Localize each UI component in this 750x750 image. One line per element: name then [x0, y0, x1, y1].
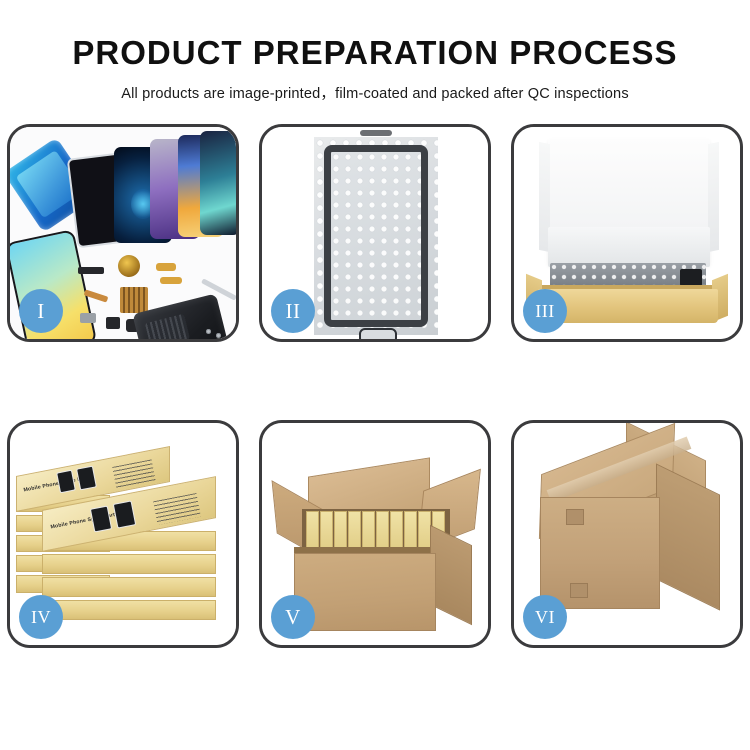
page-subtitle: All products are image-printed，film-coat…: [0, 82, 750, 103]
home-button-slot: [359, 328, 397, 339]
screw-part-b: [216, 333, 221, 338]
earpiece-slot: [360, 130, 392, 136]
camera-module-part: [106, 317, 120, 329]
screw-part-a: [206, 329, 211, 334]
carton-hand-hole-top: [566, 509, 584, 525]
process-step-6[interactable]: VI: [511, 420, 743, 648]
speaker-mesh-part: [78, 267, 104, 274]
process-step-2[interactable]: II: [259, 124, 491, 342]
process-step-5[interactable]: V: [259, 420, 491, 648]
teal-display-phone: [200, 131, 236, 235]
process-step-4[interactable]: Mobile Phone Spare Parts Mobile Phone Sp…: [7, 420, 239, 648]
page-title: PRODUCT PREPARATION PROCESS: [0, 36, 750, 71]
sealed-carton-right-panel: [656, 463, 720, 610]
process-step-1[interactable]: I: [7, 124, 239, 342]
step-badge-4: IV: [19, 595, 63, 639]
wrapped-phone-screen: [324, 145, 428, 327]
step-badge-1: I: [19, 289, 63, 333]
flex-cable-part-b: [160, 277, 182, 284]
step-badge-5: V: [271, 595, 315, 639]
stack-box-r3: [42, 577, 216, 597]
carton-front-panel: [294, 553, 436, 631]
step-badge-2: II: [271, 289, 315, 333]
stack-box-r2: [42, 554, 216, 574]
process-step-grid: I II III: [7, 124, 743, 648]
sim-tray-part: [80, 313, 96, 323]
copper-coil-part: [118, 255, 140, 277]
flex-cable-part-a: [156, 263, 176, 271]
bubble-wrap-sheet: [314, 137, 438, 335]
carton-side-panel: [430, 524, 472, 624]
step-badge-6: VI: [523, 595, 567, 639]
page-header: PRODUCT PREPARATION PROCESS All products…: [0, 0, 750, 103]
foam-pad: [548, 227, 710, 267]
process-step-3[interactable]: III: [511, 124, 743, 342]
stack-box-r4: [42, 600, 216, 620]
carton-hand-hole-bottom: [570, 583, 588, 598]
step-badge-3: III: [523, 289, 567, 333]
sealed-carton-front-panel: [540, 497, 660, 609]
chip-array-part: [120, 287, 148, 313]
